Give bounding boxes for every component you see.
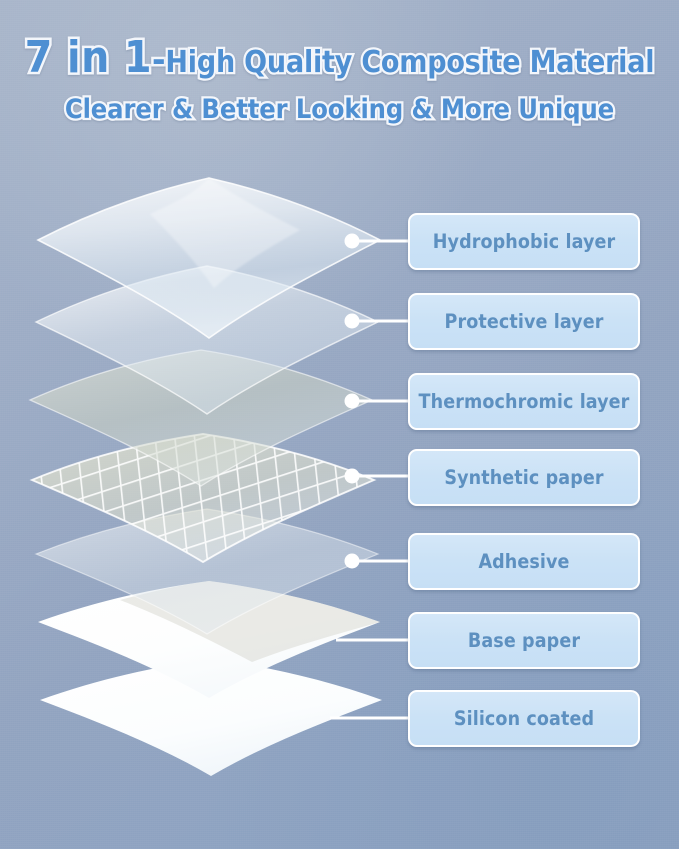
layer-label-thermochromic[interactable]: Thermochromic layer: [408, 373, 640, 430]
layer-label-text: Protective layer: [445, 310, 604, 333]
layer-label-text: Base paper: [468, 629, 580, 652]
layer-label-text: Adhesive: [478, 550, 569, 573]
header: 7 in 1-High Quality Composite Material C…: [0, 0, 679, 125]
layer-label-list: Hydrophobic layer Protective layer Therm…: [0, 0, 679, 849]
layer-label-text: Hydrophobic layer: [433, 230, 616, 253]
page-subtitle: Clearer & Better Looking & More Unique: [0, 94, 679, 125]
layer-label-adhesive[interactable]: Adhesive: [408, 533, 640, 590]
layer-label-silicon-coated[interactable]: Silicon coated: [408, 690, 640, 747]
title-prefix: 7 in 1: [25, 32, 152, 83]
title-dash: -: [152, 37, 165, 81]
layer-label-hydrophobic[interactable]: Hydrophobic layer: [408, 213, 640, 270]
layer-label-text: Silicon coated: [454, 707, 594, 730]
layer-label-protective[interactable]: Protective layer: [408, 293, 640, 350]
layer-label-text: Thermochromic layer: [419, 390, 630, 413]
layer-label-base-paper[interactable]: Base paper: [408, 612, 640, 669]
title-rest: High Quality Composite Material: [165, 45, 654, 80]
layer-label-synthetic-paper[interactable]: Synthetic paper: [408, 449, 640, 506]
layer-label-text: Synthetic paper: [444, 466, 603, 489]
page-title: 7 in 1-High Quality Composite Material: [0, 36, 679, 80]
